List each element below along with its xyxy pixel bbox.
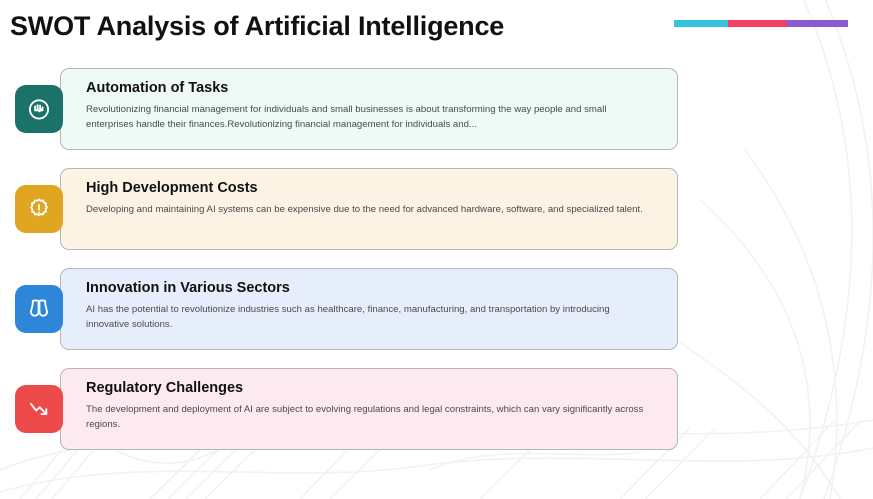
swot-card-threats[interactable]: Regulatory ChallengesThe development and… <box>0 368 873 450</box>
fist-icon <box>15 85 63 133</box>
card-description: Revolutionizing financial management for… <box>86 103 652 133</box>
page-title: SWOT Analysis of Artificial Intelligence <box>10 11 504 42</box>
card-body-opportunities: Innovation in Various SectorsAI has the … <box>60 268 678 350</box>
card-title: High Development Costs <box>86 180 661 197</box>
card-title: Innovation in Various Sectors <box>86 280 661 297</box>
card-description: The development and deployment of AI are… <box>86 403 652 433</box>
card-description: Developing and maintaining AI systems ca… <box>86 203 652 218</box>
accent-bar <box>674 20 848 27</box>
binoculars-icon <box>15 285 63 333</box>
warning-badge-icon <box>15 185 63 233</box>
swot-card-list: Automation of TasksRevolutionizing finan… <box>0 68 873 468</box>
accent-bar-pink-segment <box>728 20 787 27</box>
card-title: Automation of Tasks <box>86 80 661 97</box>
swot-card-weaknesses[interactable]: High Development CostsDeveloping and mai… <box>0 168 873 250</box>
card-body-threats: Regulatory ChallengesThe development and… <box>60 368 678 450</box>
card-body-strengths: Automation of TasksRevolutionizing finan… <box>60 68 678 150</box>
swot-card-strengths[interactable]: Automation of TasksRevolutionizing finan… <box>0 68 873 150</box>
card-description: AI has the potential to revolutionize in… <box>86 303 652 333</box>
card-body-weaknesses: High Development CostsDeveloping and mai… <box>60 168 678 250</box>
accent-bar-cyan-segment <box>674 20 728 27</box>
trending-down-icon <box>15 385 63 433</box>
card-title: Regulatory Challenges <box>86 380 661 397</box>
accent-bar-purple-segment <box>787 20 848 27</box>
swot-card-opportunities[interactable]: Innovation in Various SectorsAI has the … <box>0 268 873 350</box>
